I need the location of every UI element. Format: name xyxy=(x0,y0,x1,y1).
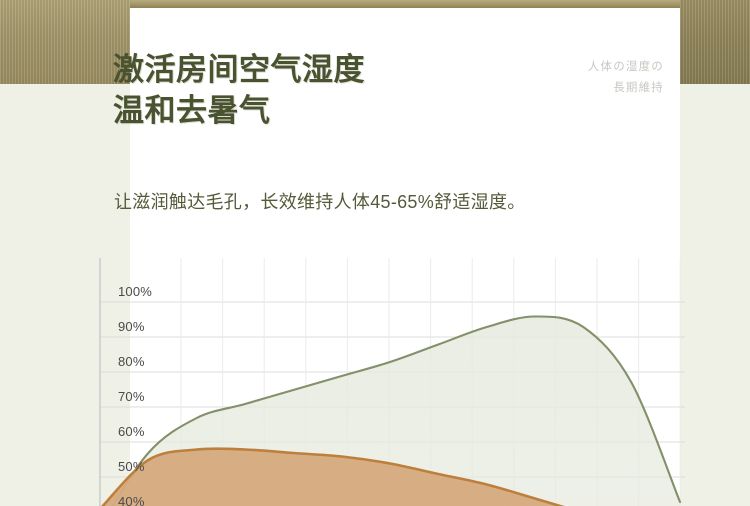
page-root: 激活房间空气湿度 温和去暑气 人体の湿度の 長期維持 让滋润触达毛孔，长效维持人… xyxy=(0,0,750,506)
chart-y-tick: 80% xyxy=(118,354,145,369)
chart-y-tick: 70% xyxy=(118,389,145,404)
chart-y-tick: 60% xyxy=(118,424,145,439)
wood-panel-right xyxy=(680,0,750,84)
japanese-note-line2: 長期維持 xyxy=(588,78,664,99)
page-title-line2: 温和去暑气 xyxy=(113,91,533,132)
wood-panel-left xyxy=(0,0,130,84)
chart-y-tick: 50% xyxy=(118,459,145,474)
chart-y-tick: 90% xyxy=(118,319,145,334)
page-title-line1: 激活房间空气湿度 xyxy=(113,52,365,87)
chart-y-tick: 40% xyxy=(118,494,145,506)
japanese-note-line1: 人体の湿度の xyxy=(588,57,664,78)
page-subtitle: 让滋润触达毛孔，长效维持人体45-65%舒适湿度。 xyxy=(114,188,526,214)
chart-canvas xyxy=(95,258,685,506)
rail-right xyxy=(680,84,750,506)
chart-y-tick: 100% xyxy=(118,284,152,299)
page-title: 激活房间空气湿度 温和去暑气 xyxy=(113,50,533,132)
japanese-note: 人体の湿度の 長期維持 xyxy=(588,57,664,100)
humidity-area-chart: 100%90%80%70%60%50%40% xyxy=(95,258,685,506)
